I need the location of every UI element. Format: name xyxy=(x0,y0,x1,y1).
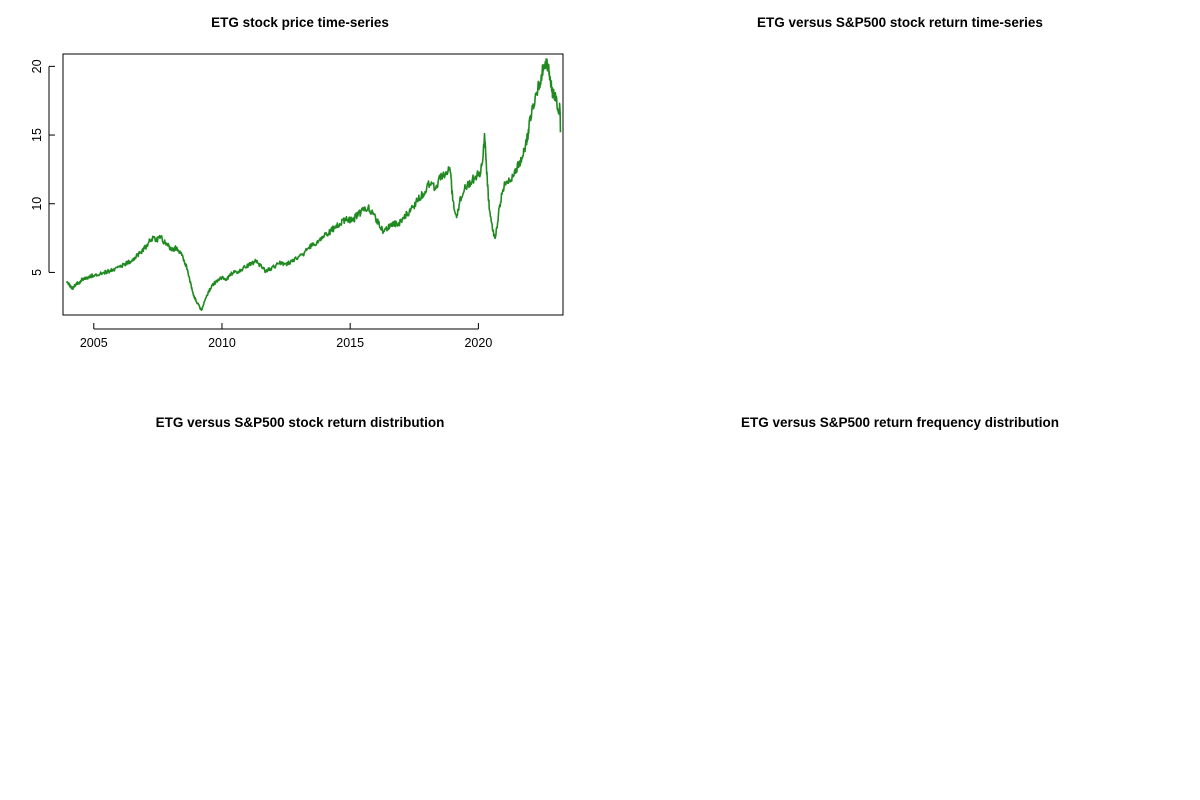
panel-etg-price-timeseries: ETG stock price time-series 200520102015… xyxy=(0,0,600,400)
panel4-title: ETG versus S&P500 return frequency distr… xyxy=(741,415,1059,430)
x-tick-label: 2015 xyxy=(336,336,364,350)
y-tick-label: 20 xyxy=(30,59,44,73)
return-distribution-chart: ETG versus S&P500 stock return distribut… xyxy=(0,400,600,800)
panel3-title: ETG versus S&P500 stock return distribut… xyxy=(156,415,445,430)
y-tick-label: 10 xyxy=(30,197,44,211)
figure-grid: ETG stock price time-series 200520102015… xyxy=(0,0,1200,800)
x-tick-label: 2010 xyxy=(208,336,236,350)
panel1-title: ETG stock price time-series xyxy=(211,15,389,30)
etg-price-chart: ETG stock price time-series 200520102015… xyxy=(0,0,600,400)
panel-etg-gspc-return-distribution: ETG versus S&P500 stock return distribut… xyxy=(0,400,600,800)
panel-etg-gspc-return-frequency: ETG versus S&P500 return frequency distr… xyxy=(600,400,1200,800)
etg-price-line xyxy=(67,59,561,310)
y-tick-label: 5 xyxy=(30,269,44,276)
panel2-title: ETG versus S&P500 stock return time-seri… xyxy=(757,15,1043,30)
panel-etg-gspc-return-timeseries: ETG versus S&P500 stock return time-seri… xyxy=(600,0,1200,400)
return-frequency-chart: ETG versus S&P500 return frequency distr… xyxy=(600,400,1200,800)
y-tick-label: 15 xyxy=(30,128,44,142)
x-tick-label: 2005 xyxy=(80,336,108,350)
x-tick-label: 2020 xyxy=(464,336,492,350)
return-timeseries-chart: ETG versus S&P500 stock return time-seri… xyxy=(600,0,1200,400)
